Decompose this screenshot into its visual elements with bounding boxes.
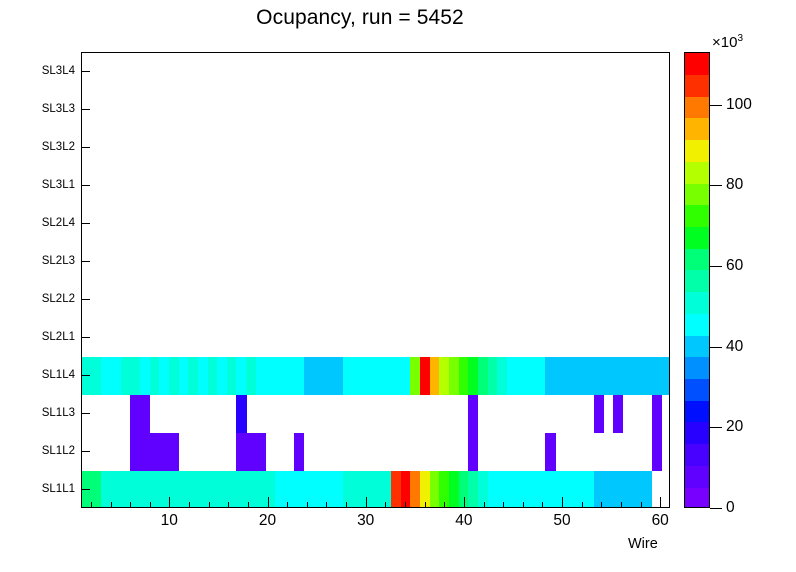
color-bar-band [685,226,709,248]
color-bar-tick-label: 80 [726,176,743,194]
root-canvas: Ocupancy, run = 5452 SL3L4SL3L3SL3L2SL3L… [0,0,796,572]
color-bar-tick-label: 40 [726,338,743,356]
x-axis-title: Wire [628,536,658,552]
color-bar-tick-label: 0 [726,499,735,517]
x-axis-minor-tick [91,502,92,508]
heatmap-cell [468,471,478,507]
y-axis-tick-label: SL2L1 [42,331,75,343]
x-axis-tick-label: 20 [259,512,276,530]
x-axis-tick-label: 10 [161,512,178,530]
x-axis-minor-tick [385,502,386,508]
color-bar-tick-label: 20 [726,418,743,436]
heatmap-cell [439,357,449,395]
heatmap-cell [169,357,179,395]
y-axis-tick-label: SL1L4 [42,369,75,381]
x-axis-minor-tick [523,502,524,508]
heatmap-cell [410,471,420,507]
heatmap-cell [256,357,305,395]
color-bar-band [685,270,709,292]
color-bar-band [685,378,709,400]
heatmap-cell [343,471,392,507]
color-bar-band [685,292,709,314]
y-axis-tick [81,147,90,148]
x-axis-minor-tick [307,502,308,508]
heatmap-cell [179,357,189,395]
heatmap-cell [130,433,179,471]
heatmap-cell [391,471,401,507]
heatmap-cell [294,433,304,471]
x-axis-tick-label: 40 [455,512,472,530]
y-axis-tick-label: SL3L4 [42,65,75,77]
y-axis-tick [81,185,90,186]
x-axis-major-tick [169,497,170,508]
color-bar-band [685,118,709,140]
heatmap-cell [82,357,102,395]
heatmap-cell [594,395,604,433]
color-bar-tick [710,347,722,348]
color-bar-band [685,335,709,357]
x-axis-minor-tick [444,502,445,508]
color-bar-tick [710,105,722,106]
heatmap-cell [468,395,478,433]
x-axis-tick-label: 60 [652,512,669,530]
x-axis-tick-label: 30 [357,512,374,530]
y-axis-tick [81,337,90,338]
heatmap-cell [497,357,507,395]
heatmap-cell [227,357,237,395]
y-axis-tick-label: SL2L3 [42,255,75,267]
color-bar-band [685,96,709,118]
x-axis-major-tick [366,497,367,508]
y-axis-tick-label: SL3L2 [42,141,75,153]
color-bar-tick-label: 60 [726,257,743,275]
color-bar-exponent: ×103 [712,33,743,51]
y-axis-tick [81,375,90,376]
color-bar-band [685,400,709,422]
x-axis-major-tick [562,497,563,508]
heatmap-cell [217,357,227,395]
y-axis-tick-label: SL3L1 [42,179,75,191]
heatmap-cell [101,357,121,395]
heatmap-cell [420,357,430,395]
x-axis-major-tick [268,497,269,508]
y-axis-tick-label: SL2L4 [42,217,75,229]
heatmap-cell [410,357,420,395]
heatmap-cell [246,357,256,395]
heatmap-cell [130,395,150,433]
heatmap-cell [613,395,623,433]
x-axis-minor-tick [601,502,602,508]
x-axis-minor-tick [484,502,485,508]
y-axis-tick [81,223,90,224]
x-axis-minor-tick [542,502,543,508]
color-bar-band [685,74,709,96]
x-axis-minor-tick [287,502,288,508]
color-bar-band [685,205,709,227]
y-axis-tick [81,413,90,414]
x-axis-minor-tick [503,502,504,508]
heatmap-cell [236,395,246,433]
heatmap-cell [159,357,169,395]
color-bar-band [685,465,709,487]
x-axis-minor-tick [621,502,622,508]
y-axis-labels: SL3L4SL3L3SL3L2SL3L1SL2L4SL2L3SL2L2SL2L1… [0,52,75,508]
heatmap-cell [275,471,343,507]
color-bar-band [685,444,709,466]
x-axis-major-tick [464,497,465,508]
x-axis-minor-tick [425,502,426,508]
color-bar-tick-label: 100 [726,96,752,114]
color-bar-band [685,248,709,270]
heatmap-cell [468,357,478,395]
x-axis-minor-tick [130,502,131,508]
heatmap-cell [198,357,208,395]
plot-frame [81,52,670,508]
color-bar-tick [710,508,722,509]
x-axis-minor-tick [111,502,112,508]
x-axis-minor-tick [189,502,190,508]
color-bar-tick [710,185,722,186]
heatmap-cell [121,357,141,395]
heatmap-cells [82,53,669,507]
y-axis-tick [81,261,90,262]
x-axis-minor-tick [248,502,249,508]
x-axis-tick-label: 50 [553,512,570,530]
x-axis-minor-tick [405,502,406,508]
heatmap-cell [449,357,459,395]
heatmap-cell [545,433,555,471]
color-bar [684,52,710,508]
color-bar-band [685,183,709,205]
color-bar-tick [710,427,722,428]
heatmap-cell [208,357,218,395]
heatmap-cell [430,471,440,507]
heatmap-cell [304,357,343,395]
x-axis-minor-tick [228,502,229,508]
heatmap-cell [507,357,546,395]
y-axis-tick [81,451,90,452]
page-title: Ocupancy, run = 5452 [0,6,720,30]
heatmap-cell [236,433,265,471]
heatmap-cell [468,433,478,471]
color-bar-band [685,161,709,183]
heatmap-cell [459,357,469,395]
color-bar-band [685,140,709,162]
heatmap-cell [236,357,246,395]
heatmap-cell [478,357,488,395]
heatmap-cell [449,471,459,507]
heatmap-cell [343,357,411,395]
x-axis-minor-tick [326,502,327,508]
color-bar-tick [710,266,722,267]
color-bar-band [685,357,709,379]
y-axis-tick [81,71,90,72]
heatmap-cell [488,357,498,395]
x-axis-minor-tick [150,502,151,508]
heatmap-cell [594,471,652,507]
y-axis-tick [81,109,90,110]
heatmap-cell [430,357,440,395]
y-axis-tick [81,489,90,490]
x-axis-minor-tick [209,502,210,508]
heatmap-cell [188,357,198,395]
y-axis-tick [81,299,90,300]
y-axis-tick-label: SL3L3 [42,103,75,115]
heatmap-cell [545,357,669,395]
y-axis-tick-label: SL1L2 [42,445,75,457]
x-axis-minor-tick [641,502,642,508]
color-bar-band [685,487,709,508]
y-axis-tick-label: SL2L2 [42,293,75,305]
heatmap-cell [652,395,662,433]
x-axis-minor-tick [346,502,347,508]
heatmap-cell [140,357,150,395]
x-axis-minor-tick [582,502,583,508]
color-bar-band [685,422,709,444]
y-axis-tick-label: SL1L3 [42,407,75,419]
color-bar-band [685,313,709,335]
x-axis-major-tick [660,497,661,508]
heatmap-cell [652,433,662,471]
heatmap-cell [150,357,160,395]
y-axis-tick-label: SL1L1 [42,483,75,495]
color-bar-band [685,53,709,75]
